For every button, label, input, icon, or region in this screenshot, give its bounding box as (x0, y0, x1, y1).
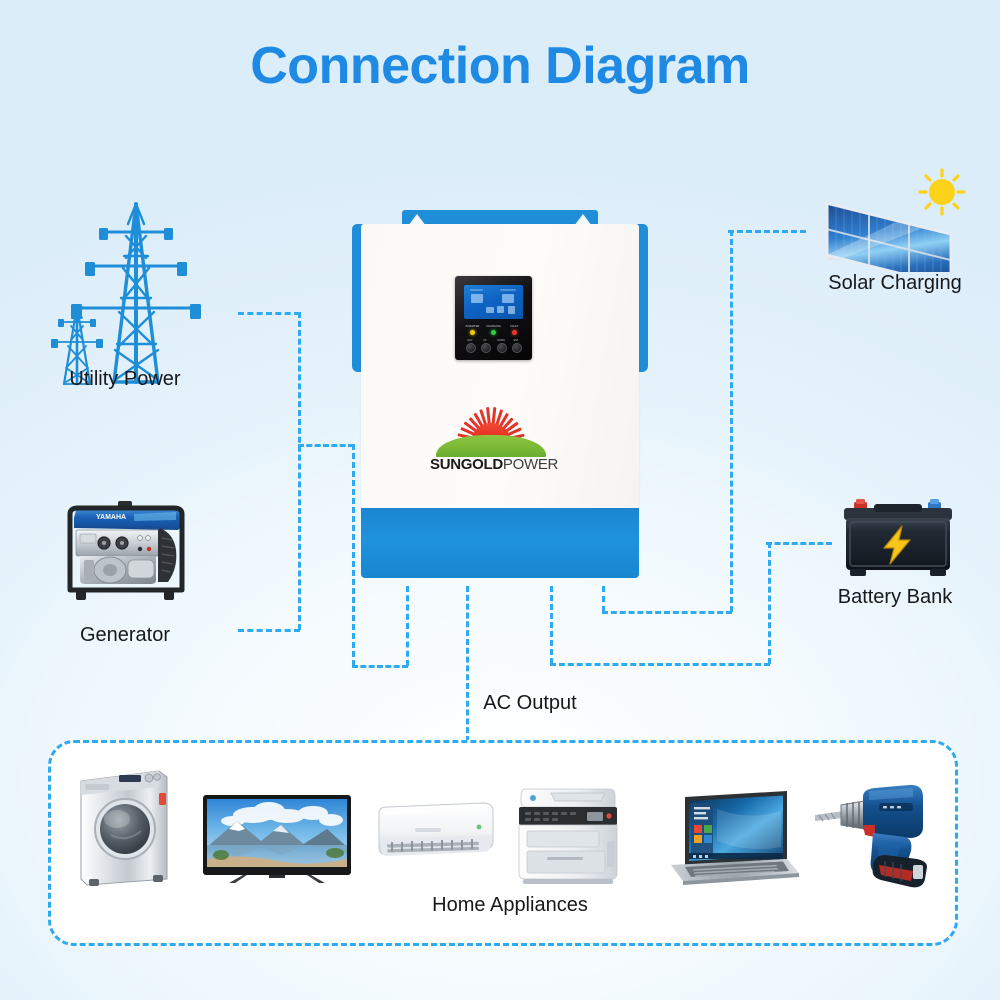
button-label-down: DOWN (494, 339, 508, 342)
solar-panel-icon (808, 168, 972, 272)
utility-power-label: Utility Power (20, 368, 230, 391)
generator-label: Generator (20, 624, 230, 647)
inverter-lcd-display (464, 285, 523, 319)
wire-battery-to-inverter (550, 663, 770, 666)
led-charging (491, 330, 496, 335)
appliance-television[interactable] (203, 795, 351, 892)
appliance-laptop[interactable] (661, 789, 801, 892)
sungold-power-logo: SUNGOLDPOWER (430, 406, 552, 478)
wire-inverter-stub-3 (550, 586, 553, 664)
inverter-led-row: INVERTER CHARGING FAULT (464, 325, 523, 337)
wire-generator-to-inverter (352, 665, 408, 668)
wire-inverter-stub-4 (602, 586, 605, 612)
inverter-button-row[interactable]: ESC UP DOWN ENT (463, 339, 524, 353)
led-fault (512, 330, 517, 335)
led-label-fault: FAULT (506, 325, 524, 328)
home-appliances-label: Home Appliances (380, 894, 640, 917)
appliance-power-drill[interactable] (813, 781, 931, 898)
button-down[interactable] (497, 343, 507, 353)
led-inverter (470, 330, 475, 335)
wire-battery-horizontal-top (766, 542, 832, 545)
utility-power-node[interactable] (44, 196, 230, 396)
power-drill-icon (813, 781, 931, 893)
button-label-up: UP (478, 339, 492, 342)
wire-solar-vertical (730, 230, 733, 612)
brand-sungold: SUNGOLD (430, 456, 503, 473)
battery-bank-node[interactable] (836, 498, 960, 582)
washing-machine-icon (75, 765, 171, 889)
led-label-inverter: INVERTER (464, 325, 482, 328)
button-esc[interactable] (466, 343, 476, 353)
solar-charging-label: Solar Charging (790, 272, 1000, 295)
inverter-unit[interactable]: INVERTER CHARGING FAULT ESC UP DOWN ENT (352, 210, 648, 588)
appliance-air-conditioner[interactable] (375, 801, 499, 878)
wire-utility-horizontal-top (238, 312, 300, 315)
sun-icon (920, 170, 964, 214)
air-conditioner-icon (375, 801, 499, 873)
green-hill-icon (436, 435, 546, 457)
connection-diagram-canvas: Connection Diagram (0, 0, 1000, 1000)
wire-solar-to-inverter (602, 611, 732, 614)
wire-inverter-ac-output-stub (466, 586, 469, 742)
television-icon (203, 795, 351, 887)
generator-node[interactable]: YAMAHA (52, 494, 204, 604)
button-label-ent: ENT (509, 339, 523, 342)
wire-inverter-stub-1 (406, 586, 409, 666)
appliance-washing-machine[interactable] (75, 765, 171, 894)
battery-bank-label: Battery Bank (790, 586, 1000, 609)
laptop-icon (661, 789, 801, 887)
brand-power: POWER (503, 456, 558, 473)
page-title: Connection Diagram (0, 36, 1000, 96)
ac-output-label: AC Output (420, 692, 640, 715)
button-ent[interactable] (512, 343, 522, 353)
inverter-base-panel (361, 508, 639, 578)
solar-charging-node[interactable] (808, 168, 972, 272)
inverter-control-panel[interactable]: INVERTER CHARGING FAULT ESC UP DOWN ENT (455, 276, 532, 360)
printer-icon (513, 785, 625, 887)
transmission-tower-icon (44, 196, 230, 396)
portable-generator-icon: YAMAHA (52, 494, 204, 604)
svg-text:YAMAHA: YAMAHA (96, 514, 126, 521)
led-label-charging: CHARGING (485, 325, 503, 328)
wire-utility-horizontal-bottom (238, 629, 300, 632)
brand-wordmark: SUNGOLDPOWER (430, 456, 552, 473)
battery-icon (836, 498, 960, 582)
appliance-printer[interactable] (513, 785, 625, 892)
button-label-esc: ESC (463, 339, 477, 342)
wire-utility-vertical (298, 312, 301, 630)
wire-generator-horizontal (298, 444, 354, 447)
wire-battery-vertical (768, 542, 771, 664)
wire-solar-horizontal-top (728, 230, 806, 233)
button-up[interactable] (481, 343, 491, 353)
